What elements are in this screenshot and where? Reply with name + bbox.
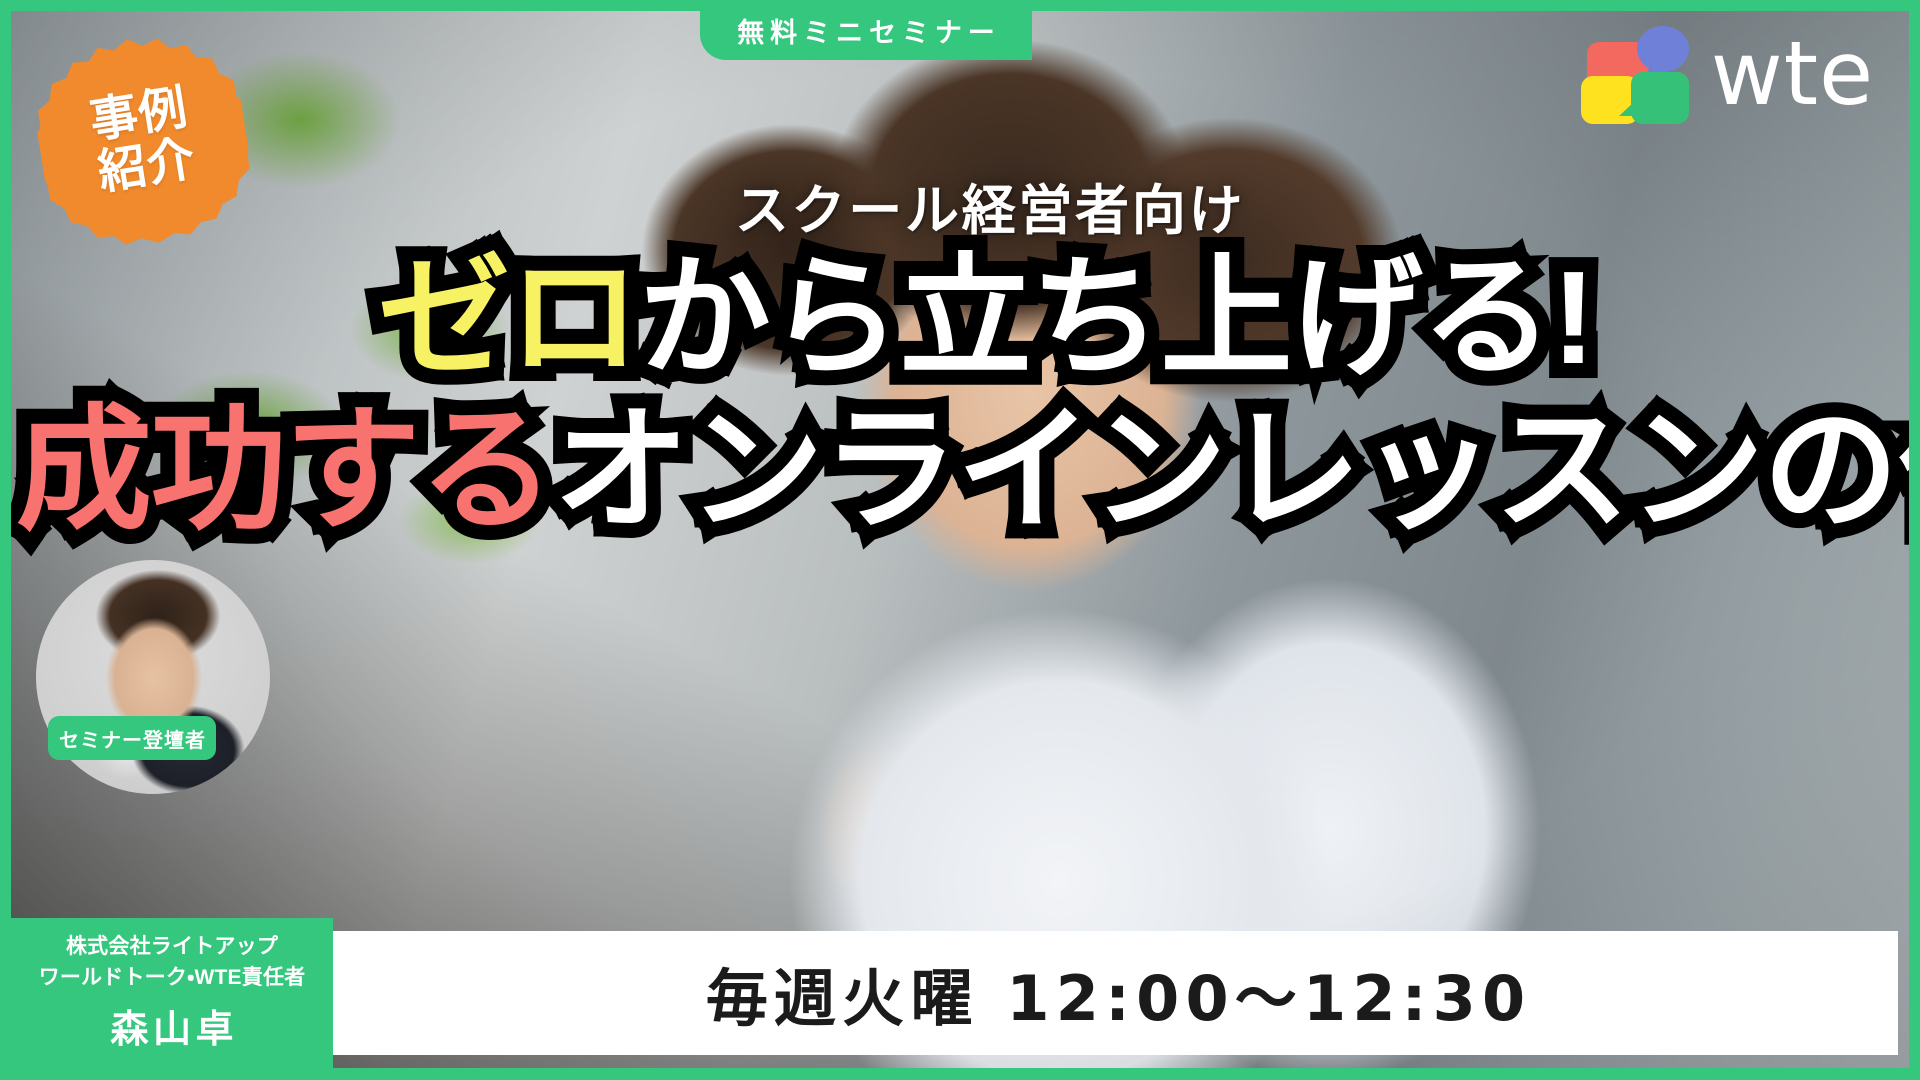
green-speech-bubble-icon <box>1631 72 1689 124</box>
headline-line1-segment-1: ゼロ <box>378 244 639 391</box>
presenter-title: ワールドトーク・WTE責任者 <box>39 964 306 993</box>
free-mini-seminar-label: 無料ミニセミナー <box>731 11 1000 50</box>
wte-logo-mark <box>1577 24 1695 124</box>
frame-right-edge <box>1909 0 1920 1080</box>
wte-logo[interactable]: wte <box>1577 24 1874 124</box>
frame-left-edge <box>0 0 11 1080</box>
blue-speech-bubble-icon <box>1637 26 1689 72</box>
headline-line2-segment-2: オンラインレッスンの作り方 <box>553 394 1920 546</box>
headline-line2-segment-1: 成功する <box>16 394 553 546</box>
seminar-banner: スクール経営者向け ゼロから立ち上げる! 成功するオンラインレッスンの作り方 無… <box>0 0 1920 1080</box>
presenter-role-badge-label: セミナー登壇者 <box>58 724 206 753</box>
frame-bottom-edge <box>0 1068 1920 1080</box>
presenter-company: 株式会社ライトアップ <box>66 933 278 962</box>
headline-line1-segment-3: る! <box>1421 244 1594 391</box>
frame-top-edge <box>0 0 1920 11</box>
schedule-text: 毎週火曜 12:00〜12:30 <box>700 948 1532 1038</box>
presenter-name: 森山卓 <box>106 998 238 1053</box>
headline-line-2: 成功するオンラインレッスンの作り方 <box>0 402 1920 538</box>
presenter-role-badge: セミナー登壇者 <box>48 716 216 760</box>
presenter-info-panel: 株式会社ライトアップ ワールドトーク・WTE責任者 森山卓 <box>11 918 333 1068</box>
headline-line1-segment-2: から立ち上げ <box>639 244 1422 391</box>
headline-kicker: スクール経営者向け <box>0 166 1920 245</box>
wte-logo-wordmark: wte <box>1711 34 1874 113</box>
schedule-bar: 毎週火曜 12:00〜12:30 <box>333 931 1898 1055</box>
headline-line-1: ゼロから立ち上げる! <box>0 252 1920 384</box>
